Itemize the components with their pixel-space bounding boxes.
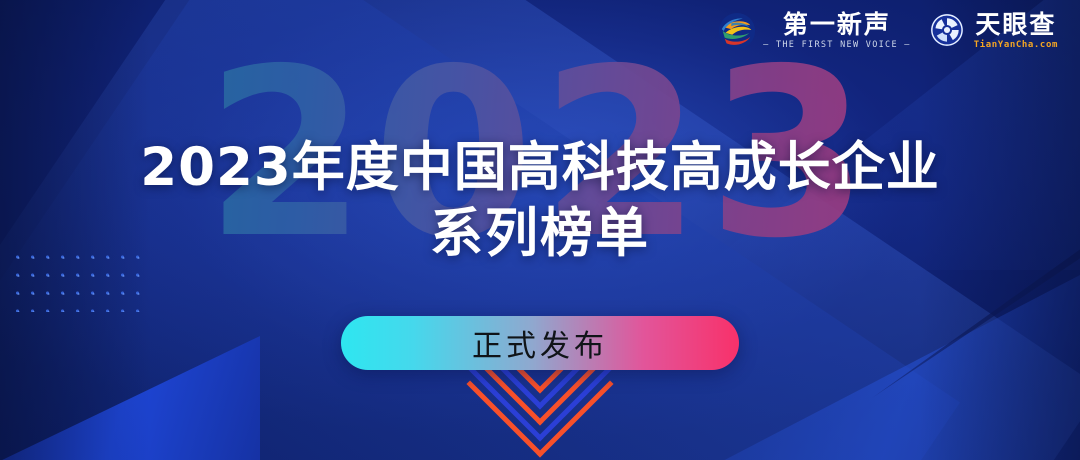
release-status-label: 正式发布 xyxy=(472,321,608,365)
headline-line-2: 系列榜单 xyxy=(0,202,1080,266)
headline-line-1: 2023年度中国高科技高成长企业 xyxy=(0,136,1080,200)
logo-tianyancha-tagline: TianYanCha.com xyxy=(974,41,1058,50)
logo-tianyancha[interactable]: 天眼查 TianYanCha.com xyxy=(929,12,1058,50)
aperture-eye-logo-icon xyxy=(929,12,967,50)
logo-diyi-xinsheng-text: 第一新声 — THE FIRST NEW VOICE — xyxy=(763,12,911,50)
triangle-bottom-left xyxy=(0,336,260,460)
globe-swirl-logo-icon xyxy=(718,12,756,50)
headline-block: 2023年度中国高科技高成长企业 系列榜单 xyxy=(0,136,1080,266)
logo-tianyancha-text: 天眼查 TianYanCha.com xyxy=(974,12,1058,50)
logo-diyi-xinsheng-tagline: — THE FIRST NEW VOICE — xyxy=(763,41,911,50)
logo-diyi-xinsheng[interactable]: 第一新声 — THE FIRST NEW VOICE — xyxy=(718,12,911,50)
poster-banner: 2023 2023年度中国高科技高成长企业 系列榜单 正式发布 xyxy=(0,0,1080,460)
logo-diyi-xinsheng-name: 第一新声 xyxy=(783,12,891,37)
logo-bar: 第一新声 — THE FIRST NEW VOICE — xyxy=(718,12,1058,50)
logo-tianyancha-name: 天眼查 xyxy=(975,12,1056,37)
release-status-pill[interactable]: 正式发布 xyxy=(341,316,739,370)
